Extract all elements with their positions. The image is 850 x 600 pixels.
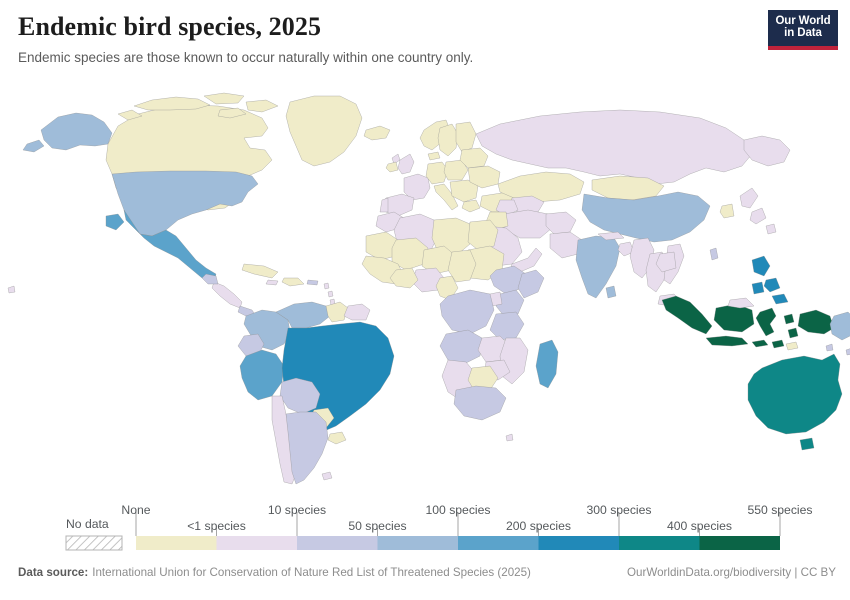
country-madagascar[interactable] <box>536 340 558 388</box>
legend-label-100: 100 species <box>425 503 490 517</box>
legend-bin-200[interactable] <box>539 536 620 550</box>
country-indonesia-maluku[interactable] <box>784 314 798 338</box>
legend-bin-300[interactable] <box>619 536 700 550</box>
country-indonesia-java[interactable] <box>706 336 748 346</box>
country-indonesia[interactable] <box>662 296 712 334</box>
country-sri-lanka[interactable] <box>606 286 616 298</box>
owid-logo[interactable]: Our World in Data <box>768 10 838 50</box>
legend-no-data-label: No data <box>66 517 109 531</box>
country-alaska[interactable] <box>23 113 112 152</box>
chart-subtitle: Endemic species are those known to occur… <box>18 49 832 67</box>
country-puerto-rico[interactable] <box>307 280 318 285</box>
chart-header: Endemic bird species, 2025 Endemic speci… <box>18 12 832 66</box>
country-portugal[interactable] <box>380 198 388 212</box>
legend-bin-400[interactable] <box>700 536 781 550</box>
data-source-text: International Union for Conservation of … <box>92 566 531 579</box>
country-greece[interactable] <box>462 200 480 212</box>
country-antarctic-fragment[interactable] <box>506 434 513 441</box>
legend-label-550: 550 species <box>747 503 812 517</box>
country-guyana[interactable] <box>326 302 348 322</box>
legend-color-bins[interactable] <box>136 536 780 550</box>
country-uruguay[interactable] <box>328 432 346 444</box>
country-russia-far-east[interactable] <box>744 136 790 166</box>
country-indonesia-lesser-sunda[interactable] <box>752 340 784 348</box>
legend-label-none: None <box>121 503 150 517</box>
country-shapes[interactable] <box>8 93 850 484</box>
chart-footer: Data source: International Union for Con… <box>18 566 836 579</box>
country-philippines[interactable] <box>752 256 788 304</box>
attribution-link[interactable]: OurWorldinData.org/biodiversity | CC BY <box>627 566 836 579</box>
country-malaysia-borneo[interactable] <box>728 298 754 308</box>
legend-label-400: 400 species <box>667 519 732 533</box>
owid-logo-line2: in Data <box>784 28 822 40</box>
country-indonesia-kalimantan[interactable] <box>714 304 754 332</box>
country-dr-congo[interactable] <box>440 290 494 334</box>
country-tasmania[interactable] <box>800 438 814 450</box>
country-central-america[interactable] <box>212 282 242 308</box>
country-taiwan[interactable] <box>710 248 718 260</box>
country-australia[interactable] <box>748 354 842 434</box>
world-map-svg[interactable] <box>0 88 850 488</box>
country-tanzania[interactable] <box>490 312 524 340</box>
choropleth-map[interactable] <box>0 88 850 488</box>
legend-bin-none[interactable] <box>136 536 217 550</box>
country-suriname[interactable] <box>344 304 370 320</box>
country-argentina[interactable] <box>286 412 328 484</box>
country-indonesia-papua[interactable] <box>798 310 834 334</box>
country-indonesia-sulawesi[interactable] <box>756 308 776 336</box>
country-peru[interactable] <box>240 350 284 400</box>
country-pacific-islands[interactable] <box>826 344 850 355</box>
legend-label-200: 200 species <box>506 519 571 533</box>
country-somalia[interactable] <box>518 270 544 298</box>
country-sweden[interactable] <box>438 124 458 156</box>
country-papua-new-guinea[interactable] <box>830 312 850 340</box>
country-korea[interactable] <box>720 204 734 218</box>
country-egypt[interactable] <box>468 220 498 250</box>
legend-bin-50[interactable] <box>378 536 459 550</box>
country-afghanistan[interactable] <box>546 212 576 234</box>
data-source-label: Data source: <box>18 566 88 579</box>
country-south-africa[interactable] <box>454 386 506 420</box>
legend-svg[interactable]: No data None 10 species 100 species 300 <box>0 498 850 556</box>
legend-label-50: 50 species <box>348 519 406 533</box>
country-timor-leste[interactable] <box>786 342 798 350</box>
legend-bin-lt1[interactable] <box>217 536 298 550</box>
country-greenland[interactable] <box>286 96 362 166</box>
country-cuba[interactable] <box>242 264 278 278</box>
page-title: Endemic bird species, 2025 <box>18 12 832 42</box>
country-atlantic-island[interactable] <box>8 286 15 293</box>
country-finland[interactable] <box>456 122 476 152</box>
map-legend: No data None 10 species 100 species 300 <box>0 498 850 556</box>
country-ireland[interactable] <box>386 162 398 172</box>
country-denmark[interactable] <box>428 152 440 160</box>
country-hispaniola[interactable] <box>282 278 304 286</box>
country-angola[interactable] <box>440 330 482 364</box>
legend-no-data-hatch <box>66 536 122 550</box>
legend-bin-100[interactable] <box>458 536 539 550</box>
country-russia[interactable] <box>476 110 752 184</box>
legend-label-lt1: <1 species <box>187 519 246 533</box>
country-falklands[interactable] <box>322 472 332 480</box>
legend-label-300: 300 species <box>586 503 651 517</box>
legend-bin-10[interactable] <box>297 536 378 550</box>
country-japan[interactable] <box>740 188 776 234</box>
legend-label-10: 10 species <box>268 503 326 517</box>
country-lesser-antilles[interactable] <box>324 283 335 305</box>
country-jamaica[interactable] <box>266 280 278 285</box>
country-iceland[interactable] <box>364 126 390 140</box>
